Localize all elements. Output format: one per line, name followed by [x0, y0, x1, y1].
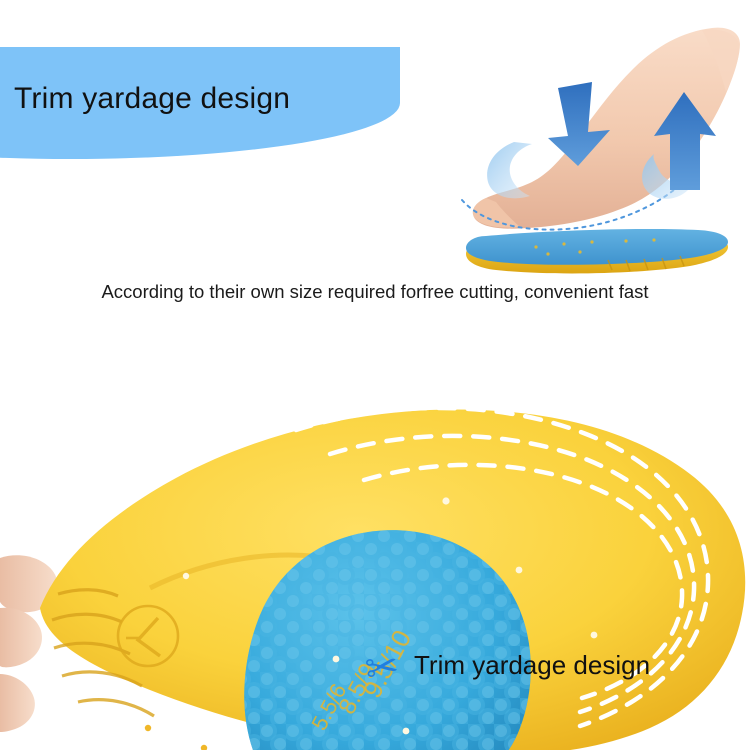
- trim-caption-text: Trim yardage design: [414, 650, 650, 681]
- insole-profile-product: [466, 229, 728, 274]
- subtitle-text: According to their own size required for…: [0, 281, 750, 303]
- product-marketing-image: Trim yardage design: [0, 0, 750, 750]
- page-title: Trim yardage design: [14, 82, 434, 116]
- holding-fingers: [0, 555, 58, 732]
- scissors-icon: ✂: [358, 637, 405, 698]
- foot-arch-support-diagram: [440, 14, 750, 276]
